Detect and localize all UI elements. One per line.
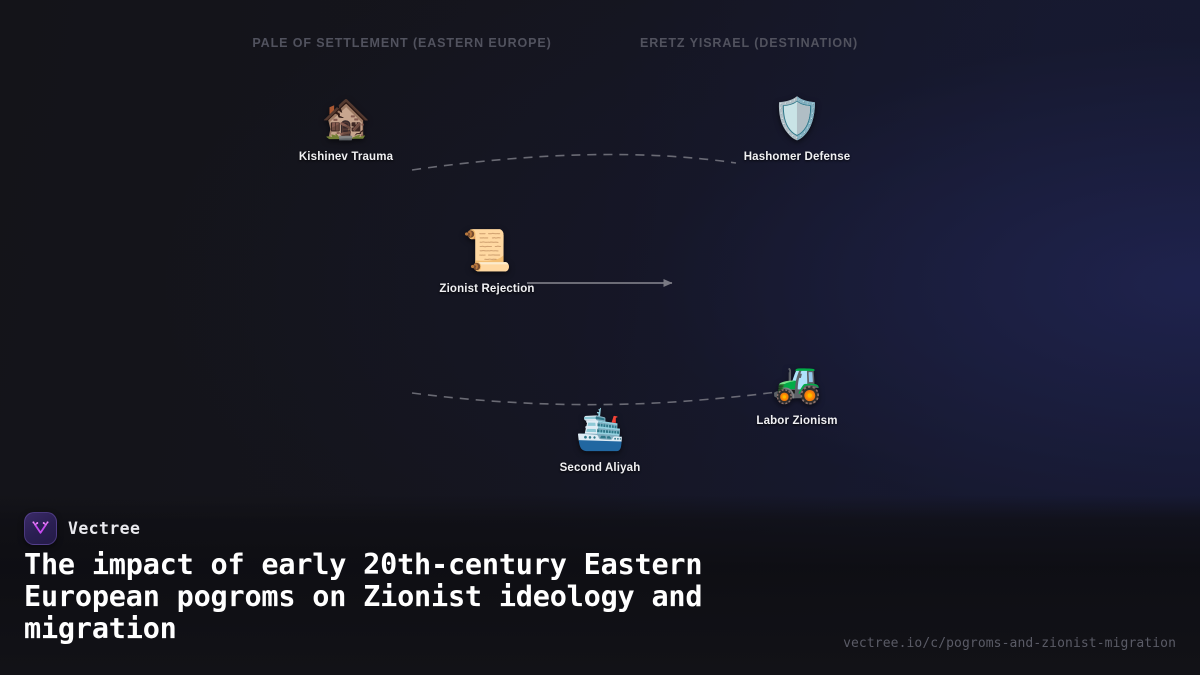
node-label: Second Aliyah <box>500 462 700 474</box>
column-header-eretz: ERETZ YISRAEL (DESTINATION) <box>640 36 858 50</box>
page-title: The impact of early 20th-century Eastern… <box>24 549 824 645</box>
graph-node-zionist-rejection[interactable]: 📜 Zionist Rejection <box>387 228 587 295</box>
brand-block: Vectree <box>24 512 140 545</box>
shield-icon: 🛡️ <box>697 96 897 142</box>
graph-node-kishinev-trauma[interactable]: 🏚️ Kishinev Trauma <box>246 96 446 163</box>
source-url: vectree.io/c/pogroms-and-zionist-migrati… <box>843 636 1176 651</box>
node-label: Kishinev Trauma <box>246 151 446 163</box>
tractor-icon: 🚜 <box>697 360 897 406</box>
derelict-house-icon: 🏚️ <box>246 96 446 142</box>
concept-graph: PALE OF SETTLEMENT (EASTERN EUROPE) ERET… <box>0 0 1200 500</box>
graph-node-hashomer-defense[interactable]: 🛡️ Hashomer Defense <box>697 96 897 163</box>
canvas-background: PALE OF SETTLEMENT (EASTERN EUROPE) ERET… <box>0 0 1200 675</box>
passenger-ship-icon: 🛳️ <box>500 407 700 453</box>
vectree-logo-icon <box>24 512 57 545</box>
scroll-icon: 📜 <box>387 228 587 274</box>
node-label: Hashomer Defense <box>697 151 897 163</box>
column-header-pale: PALE OF SETTLEMENT (EASTERN EUROPE) <box>252 36 551 50</box>
edge-kishinev-hashomer <box>412 154 736 170</box>
brand-name: Vectree <box>68 519 140 538</box>
node-label: Zionist Rejection <box>387 283 587 295</box>
node-label: Labor Zionism <box>697 415 897 427</box>
graph-node-labor-zionism[interactable]: 🚜 Labor Zionism <box>697 360 897 427</box>
graph-node-second-aliyah[interactable]: 🛳️ Second Aliyah <box>500 407 700 474</box>
